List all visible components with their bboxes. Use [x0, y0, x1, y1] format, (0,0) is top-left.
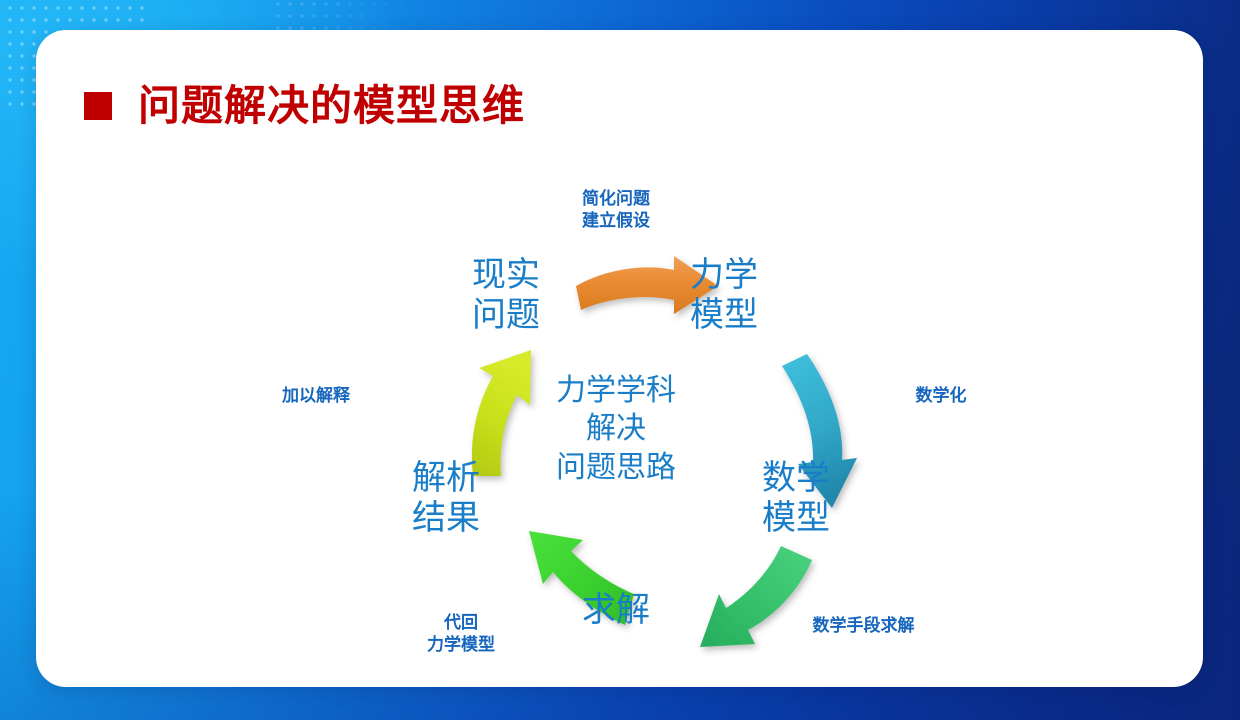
diagram-center-label: 力学学科 解决 问题思路: [516, 372, 716, 487]
square-bullet-icon: [84, 92, 112, 120]
step-label-math-solve: 数学手段求解: [776, 615, 951, 637]
node-math-model: 数学 模型: [736, 458, 856, 538]
step-label-interpret: 加以解释: [246, 385, 386, 407]
node-solve: 求解: [561, 590, 671, 630]
node-analysis-result: 解析 结果: [386, 458, 506, 538]
slide-title-row: 问题解决的模型思维: [84, 85, 525, 127]
step-label-back-substitute: 代回 力学模型: [391, 612, 531, 656]
cycle-diagram: 现实 问题 力学 模型 数学 模型 求解 解析 结果 力学学科 解决 问题思路 …: [36, 160, 1203, 687]
page-title: 问题解决的模型思维: [138, 85, 525, 127]
step-label-mathematize: 数学化: [876, 385, 1006, 407]
slide-content-card: 问题解决的模型思维: [36, 30, 1203, 687]
node-mechanics-model: 力学 模型: [664, 255, 784, 335]
node-real-problem: 现实 问题: [446, 255, 566, 335]
slide-canvas: 问题解决的模型思维: [0, 0, 1240, 720]
step-label-simplify: 简化问题 建立假设: [536, 188, 696, 232]
